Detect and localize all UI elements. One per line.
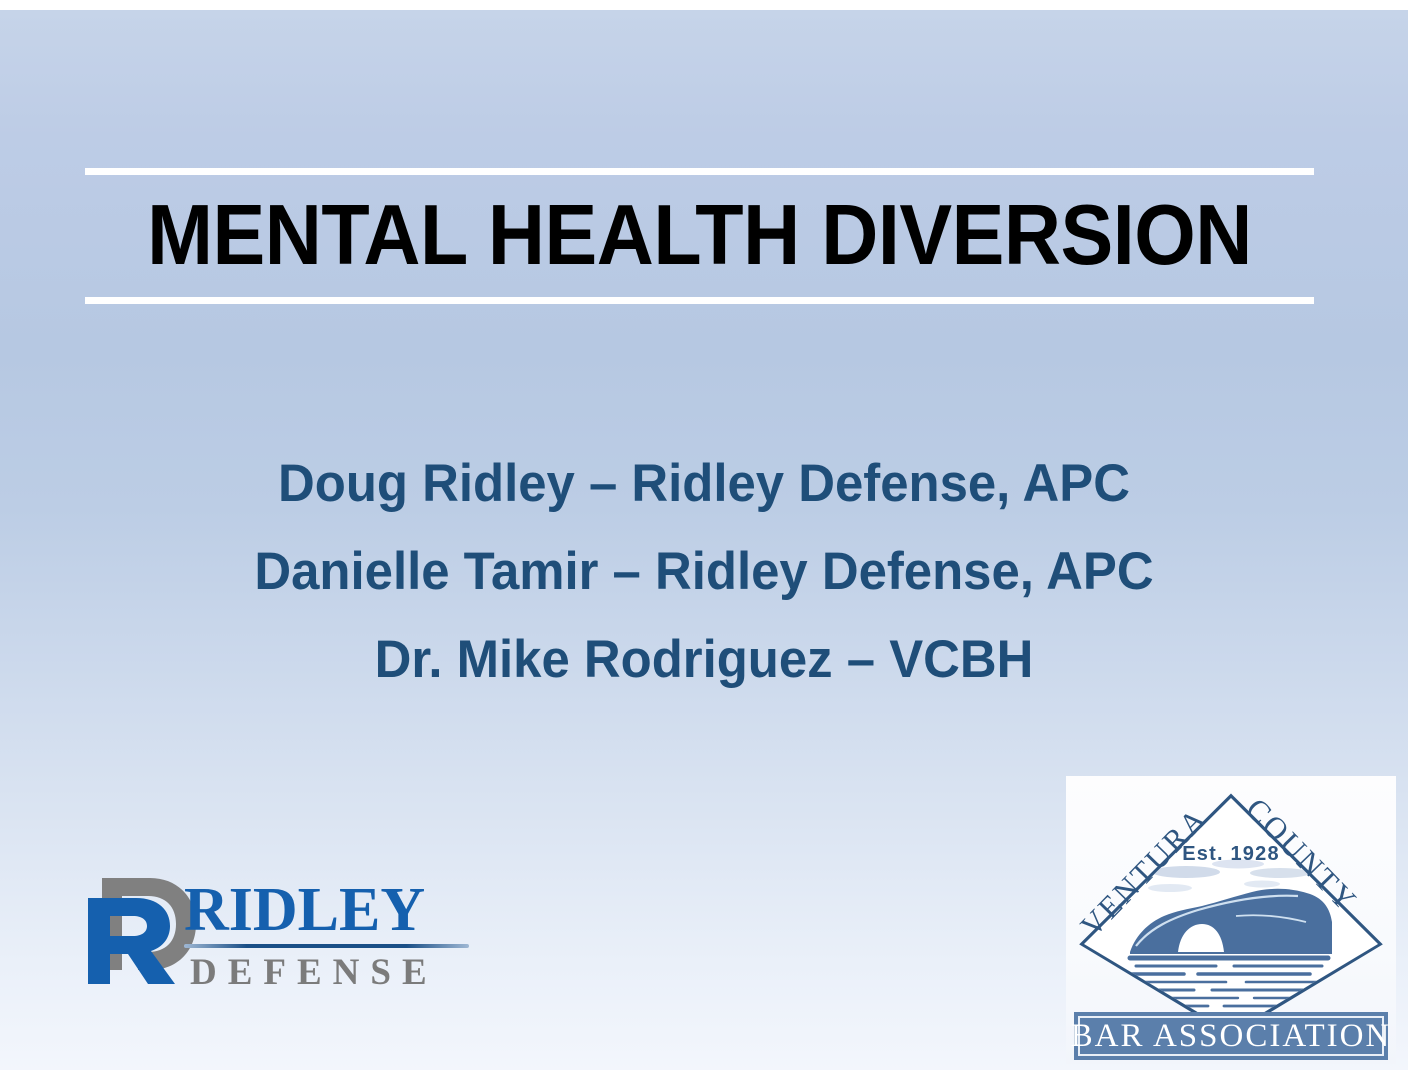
- title-rule-top: [85, 168, 1314, 175]
- page-title: MENTAL HEALTH DIVERSION: [128, 175, 1271, 297]
- seal-banner-text: BAR ASSOCIATION: [1071, 1018, 1392, 1054]
- ridley-underline: [184, 944, 469, 948]
- ridley-defense-logo: RIDLEY DEFENSE: [80, 872, 480, 990]
- seal-illustration: [1084, 798, 1378, 1034]
- ridley-sub-text: DEFENSE: [190, 952, 480, 994]
- ridley-wordmark: RIDLEY DEFENSE: [184, 878, 480, 988]
- presenter-line: Dr. Mike Rodriguez – VCBH: [28, 616, 1380, 704]
- title-rule-bottom: [85, 297, 1314, 304]
- seal-established-text: Est. 1928: [1182, 843, 1280, 865]
- ventura-county-bar-association-seal: VENTURA COUNTY Est. 1928 BAR ASSOCIATION: [1066, 776, 1396, 1064]
- title-slide: MENTAL HEALTH DIVERSION Doug Ridley – Ri…: [0, 0, 1408, 1088]
- presenter-list: Doug Ridley – Ridley Defense, APC Daniel…: [0, 440, 1408, 704]
- presenter-line: Danielle Tamir – Ridley Defense, APC: [28, 528, 1380, 616]
- ridley-name-text: RIDLEY: [184, 878, 480, 942]
- presenter-line: Doug Ridley – Ridley Defense, APC: [28, 440, 1380, 528]
- title-block: MENTAL HEALTH DIVERSION: [85, 168, 1314, 304]
